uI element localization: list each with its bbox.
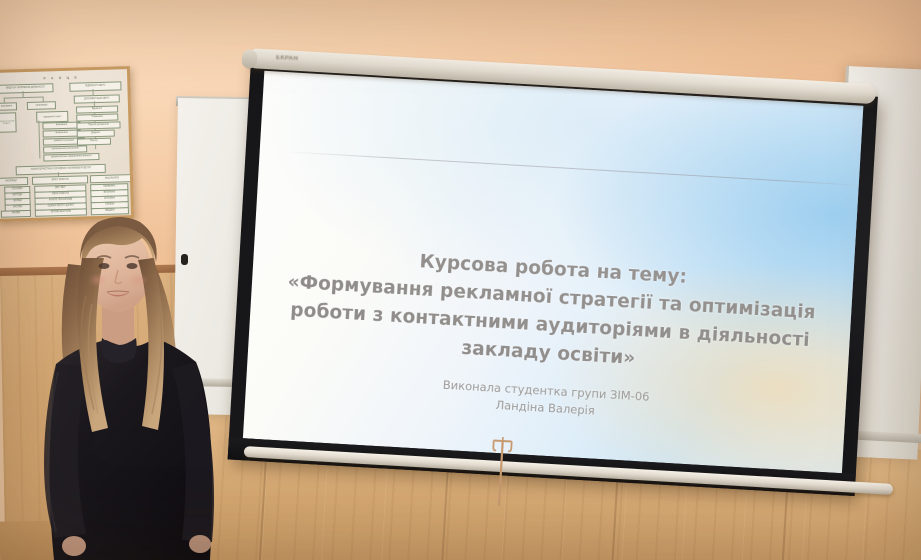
poster-box: Реєстр: [77, 138, 111, 146]
poster-box: ВИДИ ЗА НАПРЯМОМ ДІЯЛЬНОСТІ: [0, 83, 54, 94]
slide-content: Курсова робота на тему: «Формування рекл…: [243, 71, 863, 473]
poster-box: ХАРАКТЕРИСТИКА ОСНОВНИХ НАПРЯМІВ РОБОТИ: [16, 164, 106, 176]
classroom-photo: Р А Н Ц Е ВИДИ ЗА НАПРЯМОМ ДІЯЛЬНОСТІ ВІ…: [0, 0, 921, 560]
slide-surface: Курсова робота на тему: «Формування рекл…: [243, 71, 863, 473]
poster-box: виконання: [0, 102, 17, 111]
poster-box: Показники: [76, 113, 118, 121]
projector-screen: Курсова робота на тему: «Формування рекл…: [236, 38, 896, 468]
poster-box: НАПРЯМИ: [0, 177, 28, 186]
screen-frame: Курсова робота на тему: «Формування рекл…: [228, 60, 878, 496]
screen-pull-handle[interactable]: [486, 435, 516, 506]
poster-box: Додатки: [77, 130, 115, 138]
poster-box: УМОВИ: [1, 210, 31, 217]
poster-box: Перелік документів: [76, 121, 120, 129]
poster-box: ЗМІСТ РОБОТИ: [32, 175, 88, 185]
poster-box: ВІДОМОСТІ ЗВІТУ: [69, 81, 121, 91]
poster-box: узагальнення результатів: [43, 145, 87, 153]
poster-box: документальне оформлення звітності: [43, 153, 99, 162]
poster-box: організація: [27, 101, 56, 110]
poster-box: ДОКУМЕНТАЦІЯ ЗВІТУ: [74, 94, 120, 103]
poster-box: ЗАВДАННЯ ПЛАНУ: [36, 111, 68, 123]
presenter-person: [34, 186, 249, 560]
poster-box: виконання: [42, 122, 80, 130]
poster-box: РЕЗУЛЬТАТИ: [90, 174, 134, 183]
poster-box: перелік основних завдань: [0, 112, 17, 133]
screen-brand-label: ЕКРАН: [276, 55, 299, 62]
poster-box: визначення: [43, 130, 81, 138]
poster-box: Відомості: [76, 105, 118, 113]
